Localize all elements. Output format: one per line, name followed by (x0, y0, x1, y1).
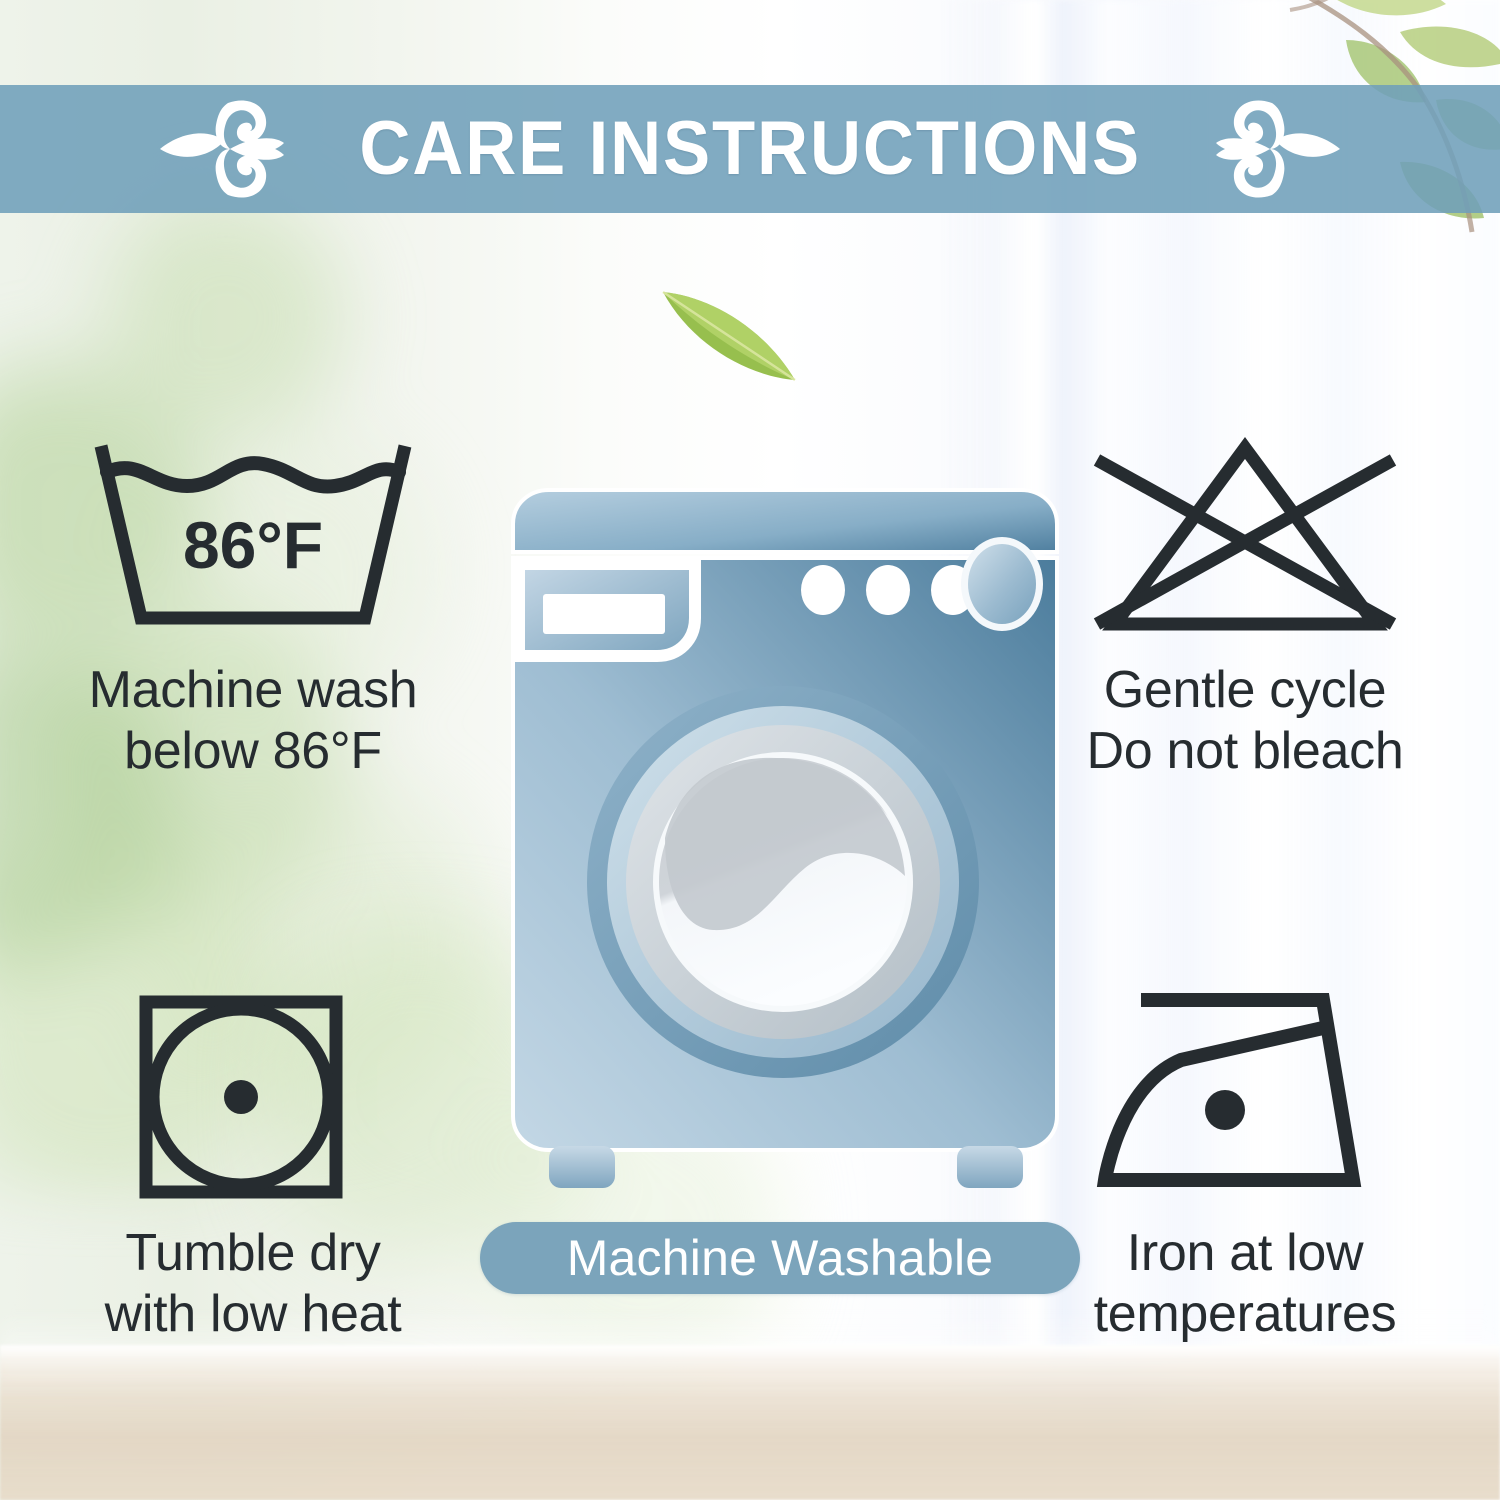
indicator-light (801, 565, 845, 615)
care-symbol-machine-wash: 86°F Machine wash below 86°F (38, 432, 468, 782)
banner: CARE INSTRUCTIONS (0, 85, 1500, 213)
care-instructions-graphic: CARE INSTRUCTIONS 86°F Machine wash belo… (0, 0, 1500, 1500)
detergent-drawer-slot (543, 594, 665, 634)
wood-table-surface (0, 1345, 1500, 1500)
fleur-de-lis-ornament-right-icon (1214, 97, 1342, 201)
washing-machine-illustration (505, 478, 1065, 1198)
care-caption-iron: Iron at low temperatures (1094, 1223, 1397, 1345)
machine-foot (549, 1146, 615, 1188)
iron-low-temperature-icon (1085, 990, 1405, 1205)
machine-foot (957, 1146, 1023, 1188)
tumble-dry-low-icon (128, 990, 378, 1205)
wash-tub-icon: 86°F (83, 432, 423, 642)
machine-washable-label: Machine Washable (567, 1233, 994, 1283)
floating-leaf-icon (655, 280, 805, 390)
machine-lid (513, 490, 1057, 552)
care-caption-tumble-dry: Tumble dry with low heat (105, 1223, 402, 1345)
care-caption-machine-wash: Machine wash below 86°F (89, 660, 418, 782)
machine-washable-badge: Machine Washable (480, 1222, 1080, 1294)
do-not-bleach-triangle-icon (1075, 432, 1415, 642)
indicator-lights (801, 565, 975, 615)
care-symbol-iron: Iron at low temperatures (1030, 990, 1460, 1345)
care-symbol-do-not-bleach: Gentle cycle Do not bleach (1030, 432, 1460, 782)
page-title: CARE INSTRUCTIONS (359, 111, 1141, 187)
machine-door (587, 686, 979, 1078)
care-symbol-tumble-dry: Tumble dry with low heat (38, 990, 468, 1345)
care-caption-do-not-bleach: Gentle cycle Do not bleach (1087, 660, 1404, 782)
fleur-de-lis-ornament-left-icon (158, 97, 286, 201)
wash-temperature-label: 86°F (183, 508, 323, 582)
indicator-light (866, 565, 910, 615)
